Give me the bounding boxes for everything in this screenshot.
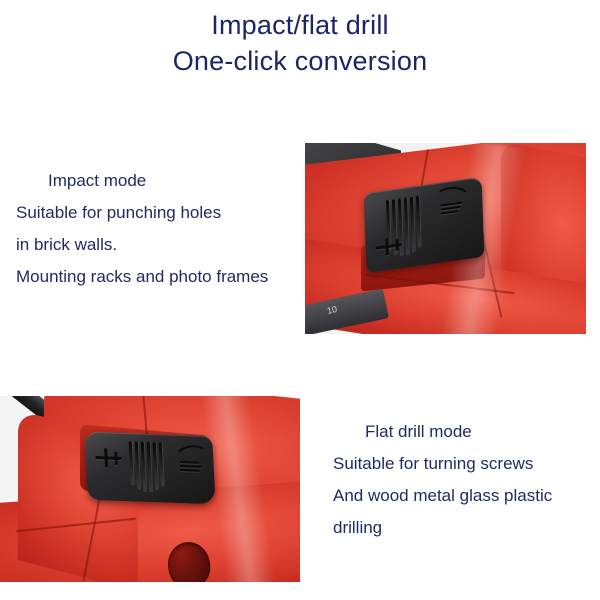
drill-bit-icon: [375, 234, 406, 260]
mode-selector-switch-flat[interactable]: [84, 432, 215, 505]
impact-mode-line-3: Mounting racks and photo frames: [16, 268, 300, 285]
flat-drill-mode-line-2: And wood metal glass plastic: [333, 487, 600, 504]
switch-grip-ribs-flat: [129, 441, 164, 490]
mode-selector-switch[interactable]: [364, 177, 485, 273]
flat-drill-mode-line-1: Suitable for turning screws: [333, 455, 600, 472]
drill-bit-icon-flat: [95, 446, 126, 471]
page-title: Impact/flat drill One-click conversion: [0, 8, 600, 79]
hammer-arc-icon: [433, 187, 471, 209]
page-title-line-1: Impact/flat drill: [0, 8, 600, 44]
flat-drill-mode-line-3: drilling: [333, 519, 600, 536]
impact-mode-line-2: in brick walls.: [16, 236, 300, 253]
impact-mode-title: Impact mode: [16, 172, 300, 189]
impact-mode-text-block: Impact mode Suitable for punching holes …: [16, 172, 300, 300]
flat-drill-mode-title: Flat drill mode: [333, 423, 600, 440]
page-title-line-2: One-click conversion: [0, 44, 600, 80]
impact-photo-scene: 10: [305, 143, 586, 334]
chuck-scale-label: 10: [326, 304, 338, 316]
flat-drill-mode-text-block: Flat drill mode Suitable for turning scr…: [333, 423, 600, 551]
impact-mode-line-1: Suitable for punching holes: [16, 204, 300, 221]
impact-mode-product-photo: 10: [305, 143, 586, 334]
flat-photo-scene: 11 10: [0, 396, 300, 582]
flat-drill-mode-product-photo: 11 10: [0, 396, 300, 582]
